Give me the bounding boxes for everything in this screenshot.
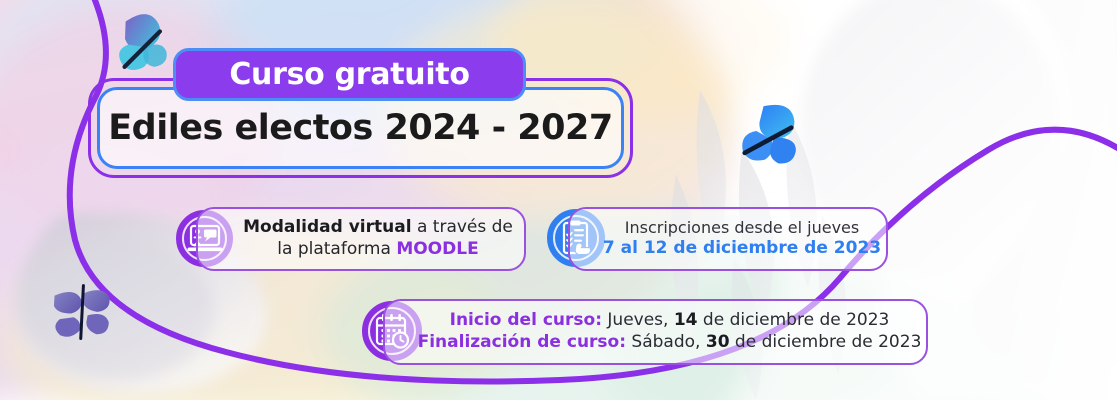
card-modalidad-line-2: la plataforma MOODLE <box>232 239 524 261</box>
finalizacion-day: Sábado, <box>626 332 706 352</box>
card-fechas-inicio: Inicio del curso: Jueves, 14 de diciembr… <box>413 310 926 332</box>
card-modalidad-line-1: Modalidad virtual a través de <box>232 217 524 239</box>
finalizacion-date-number: 30 <box>706 332 730 352</box>
moodle-label: MOODLE <box>396 239 478 259</box>
course-promo-banner: Ediles electos 2024 - 2027 Curso gratuit… <box>0 0 1117 400</box>
free-course-badge: Curso gratuito <box>173 48 526 101</box>
card-inscripciones: Inscripciones desde el jueves 7 al 12 de… <box>568 207 888 271</box>
inicio-month-year: de diciembre de 2023 <box>698 310 890 330</box>
inicio-label: Inicio del curso: <box>450 310 602 330</box>
modalidad-normal: a través de <box>412 217 513 237</box>
card-fechas-finalizacion: Finalización de curso: Sábado, 30 de dic… <box>413 332 926 354</box>
card-inscripciones-line-1: Inscripciones desde el jueves <box>598 218 886 238</box>
badge-label: Curso gratuito <box>229 57 469 92</box>
card-inscripciones-dates: 7 al 12 de diciembre de 2023 <box>598 238 886 260</box>
inicio-day: Jueves, <box>602 310 674 330</box>
page-title: Ediles electos 2024 - 2027 <box>100 108 621 148</box>
plataforma-text: la plataforma <box>277 239 396 259</box>
card-fechas-curso: Inicio del curso: Jueves, 14 de diciembr… <box>383 299 928 365</box>
card-modalidad-virtual: Modalidad virtual a través de la platafo… <box>196 207 526 271</box>
modalidad-bold: Modalidad virtual <box>243 217 411 237</box>
inicio-date-number: 14 <box>674 310 698 330</box>
finalizacion-label: Finalización de curso: <box>418 332 626 352</box>
finalizacion-month-year: de diciembre de 2023 <box>730 332 922 352</box>
